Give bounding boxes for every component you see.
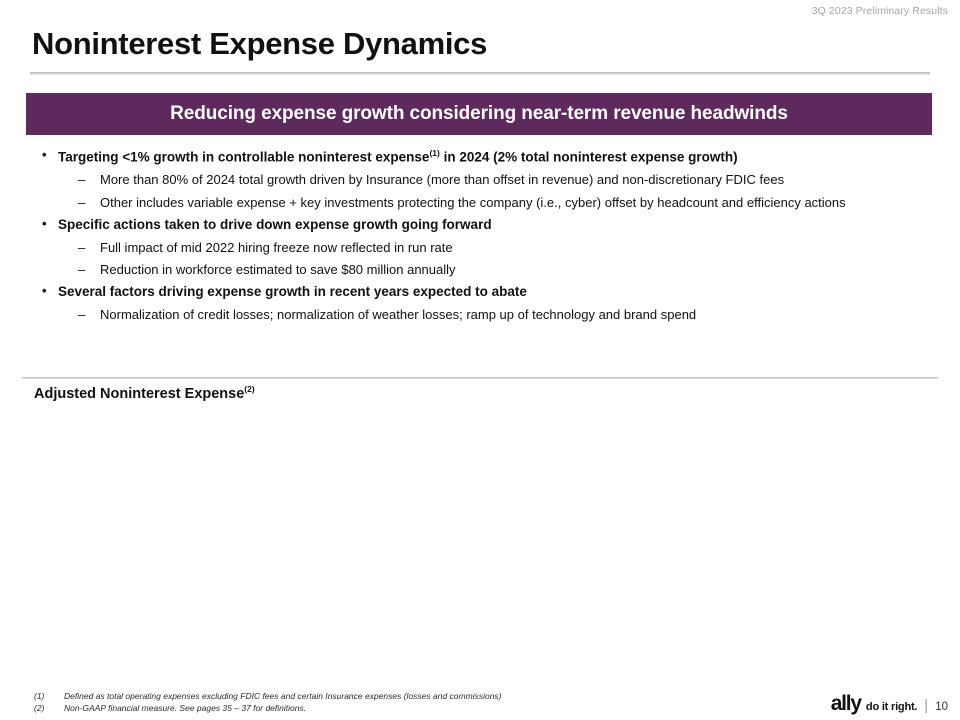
bullet-level1: Targeting <1% growth in controllable non… [36,148,952,166]
chart-divider [22,377,938,379]
presentation-eyebrow: 3Q 2023 Preliminary Results [812,5,948,17]
page-number: 10 [935,701,948,713]
footnote-row: (2) Non-GAAP financial measure. See page… [34,702,502,714]
bullet-level2: Other includes variable expense + key in… [36,195,952,211]
footnote-text: Non-GAAP financial measure. See pages 35… [64,702,306,714]
footnote-number: (1) [34,690,64,702]
bullet-list: Targeting <1% growth in controllable non… [36,148,952,329]
footnotes: (1) Defined as total operating expenses … [34,690,502,715]
slide: 3Q 2023 Preliminary Results Noninterest … [0,0,960,720]
footnote-row: (1) Defined as total operating expenses … [34,690,502,702]
bar-chart: $4.6B $4.9B $5.0B ↑ ~$50 million FDIC Fe… [0,395,960,720]
logo-tagline: do it right. [866,701,917,713]
bullet-level1: Specific actions taken to drive down exp… [36,217,952,234]
headline-banner: Reducing expense growth considering near… [26,93,932,135]
logo-wordmark: ally [831,692,861,716]
bullet-text: Targeting <1% growth in controllable non… [58,150,429,165]
footnote-number: (2) [34,702,64,714]
bullet-text-cont: in 2024 (2% total noninterest expense gr… [440,150,738,165]
title-divider [30,72,930,75]
brand-logo: ally do it right. | 10 [831,692,948,716]
footnote-ref: (2) [244,384,254,394]
bullet-level2: Normalization of credit losses; normaliz… [36,307,952,323]
footnote-text: Defined as total operating expenses excl… [64,690,502,702]
bullet-level1: Several factors driving expense growth i… [36,284,952,301]
logo-divider: | [924,697,928,714]
page-title: Noninterest Expense Dynamics [32,26,487,62]
headline-banner-text: Reducing expense growth considering near… [170,103,788,125]
bullet-level2: Full impact of mid 2022 hiring freeze no… [36,240,952,256]
bullet-level2: Reduction in workforce estimated to save… [36,262,952,278]
footnote-ref: (1) [429,148,439,158]
bullet-level2: More than 80% of 2024 total growth drive… [36,172,952,188]
